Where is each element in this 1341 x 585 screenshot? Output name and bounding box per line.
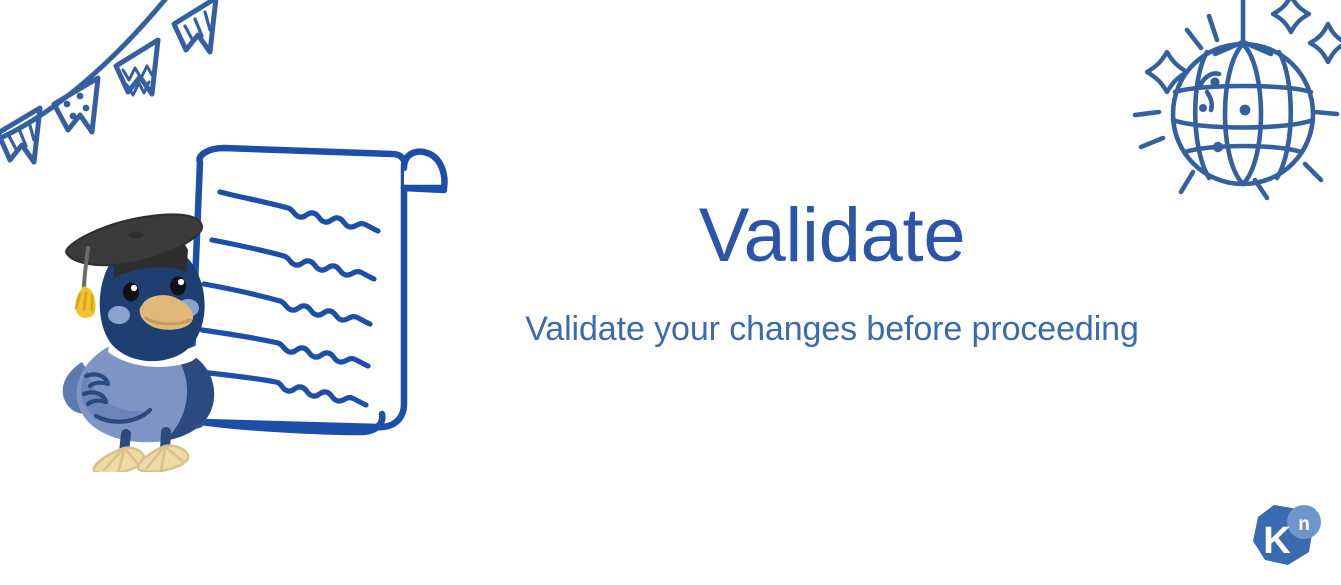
bunting-flag-dots (64, 93, 90, 120)
validate-illustration (52, 132, 462, 472)
text-block: Validate Validate your changes before pr… (462, 196, 1202, 348)
eye-left (123, 283, 139, 302)
logo-letter-k: K (1263, 520, 1291, 562)
page-subtitle: Validate your changes before proceeding (462, 311, 1202, 348)
eye-right (170, 277, 186, 296)
disco-ball-icon (1115, 0, 1341, 227)
bunting-flag-stripes (9, 122, 34, 151)
bunting-flag-zigzag (123, 66, 152, 95)
disco-ball-rays (1135, 16, 1337, 198)
slide-canvas: Validate Validate your changes before pr… (0, 0, 1341, 585)
page-title: Validate (462, 196, 1202, 275)
graduate-bird-mascot (63, 214, 214, 472)
sparkle-icon (1147, 0, 1341, 92)
logo-superscript-n: n (1298, 514, 1310, 535)
disco-ball-dots (1199, 77, 1250, 152)
kn-logo-badge[interactable]: K n (1241, 499, 1327, 577)
scroll-document-icon (181, 148, 444, 432)
